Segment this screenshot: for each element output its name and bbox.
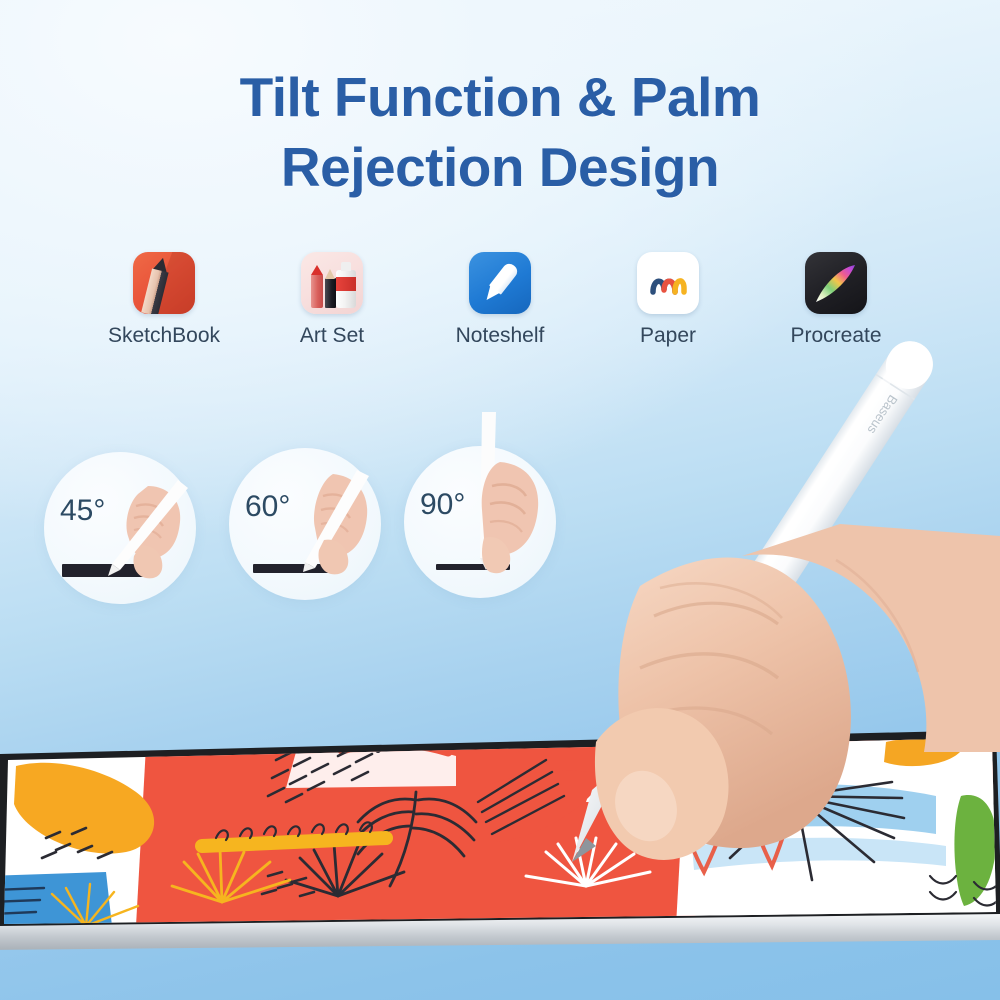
stylus-and-hand: Baseus xyxy=(0,0,1000,1000)
product-image-canvas: Tilt Function & Palm Rejection Design Sk… xyxy=(0,0,1000,1000)
